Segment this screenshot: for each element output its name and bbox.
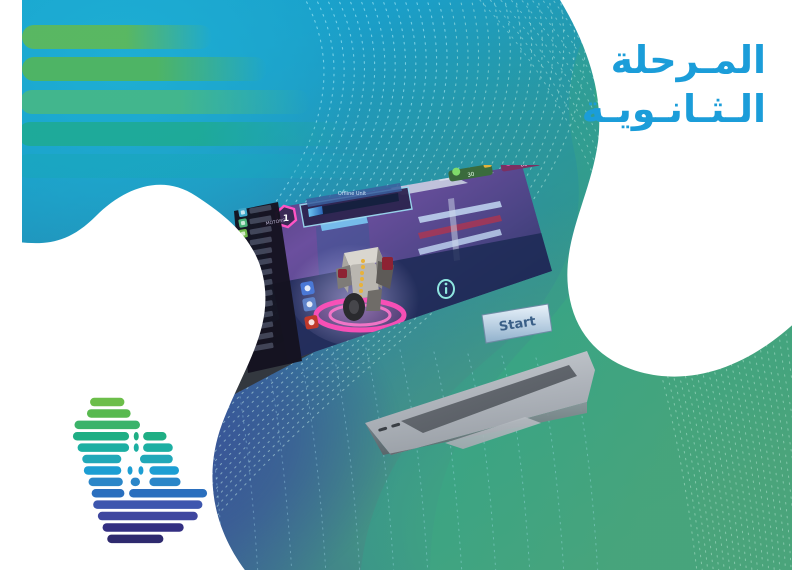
logo-bar [73,432,129,441]
title-line-2: الـثـانـويـة [506,85,766,134]
decorative-bars [0,0,420,170]
page-title: المـرحلة الـثـانـويـة [506,36,766,135]
logo-bar [134,432,139,441]
logo-bar [78,443,129,452]
logo-bar [138,466,143,475]
banner-canvas: 1 Offline Unit 30 80 Start [0,0,800,579]
logo-bar [143,443,173,452]
logo-bar [98,512,198,521]
logo-bar [149,466,179,475]
logo-bar [134,443,139,452]
decor-bar-3 [20,90,310,114]
logo-bar [74,421,140,430]
logo-bar [149,478,180,487]
laptop-device [195,155,595,455]
decor-bar-4 [18,122,348,146]
logo-bar [103,523,184,532]
logo-bar [143,432,166,441]
logo-bar [82,455,121,464]
decor-bar-2 [22,57,267,81]
logo-bar [92,489,125,498]
logo-bar [131,478,140,487]
logo-bar [107,535,163,544]
logo-bar [93,500,202,509]
mawhiba-logo [42,392,242,552]
logo-bar [90,398,124,407]
logo-bar [84,466,121,475]
decor-bar-1 [22,25,212,49]
title-line-1: المـرحلة [506,36,766,85]
logo-bar [128,466,133,475]
logo-bar [87,409,131,418]
logo-bar [129,489,207,498]
logo-bar [140,455,173,464]
logo-bar [89,478,123,487]
